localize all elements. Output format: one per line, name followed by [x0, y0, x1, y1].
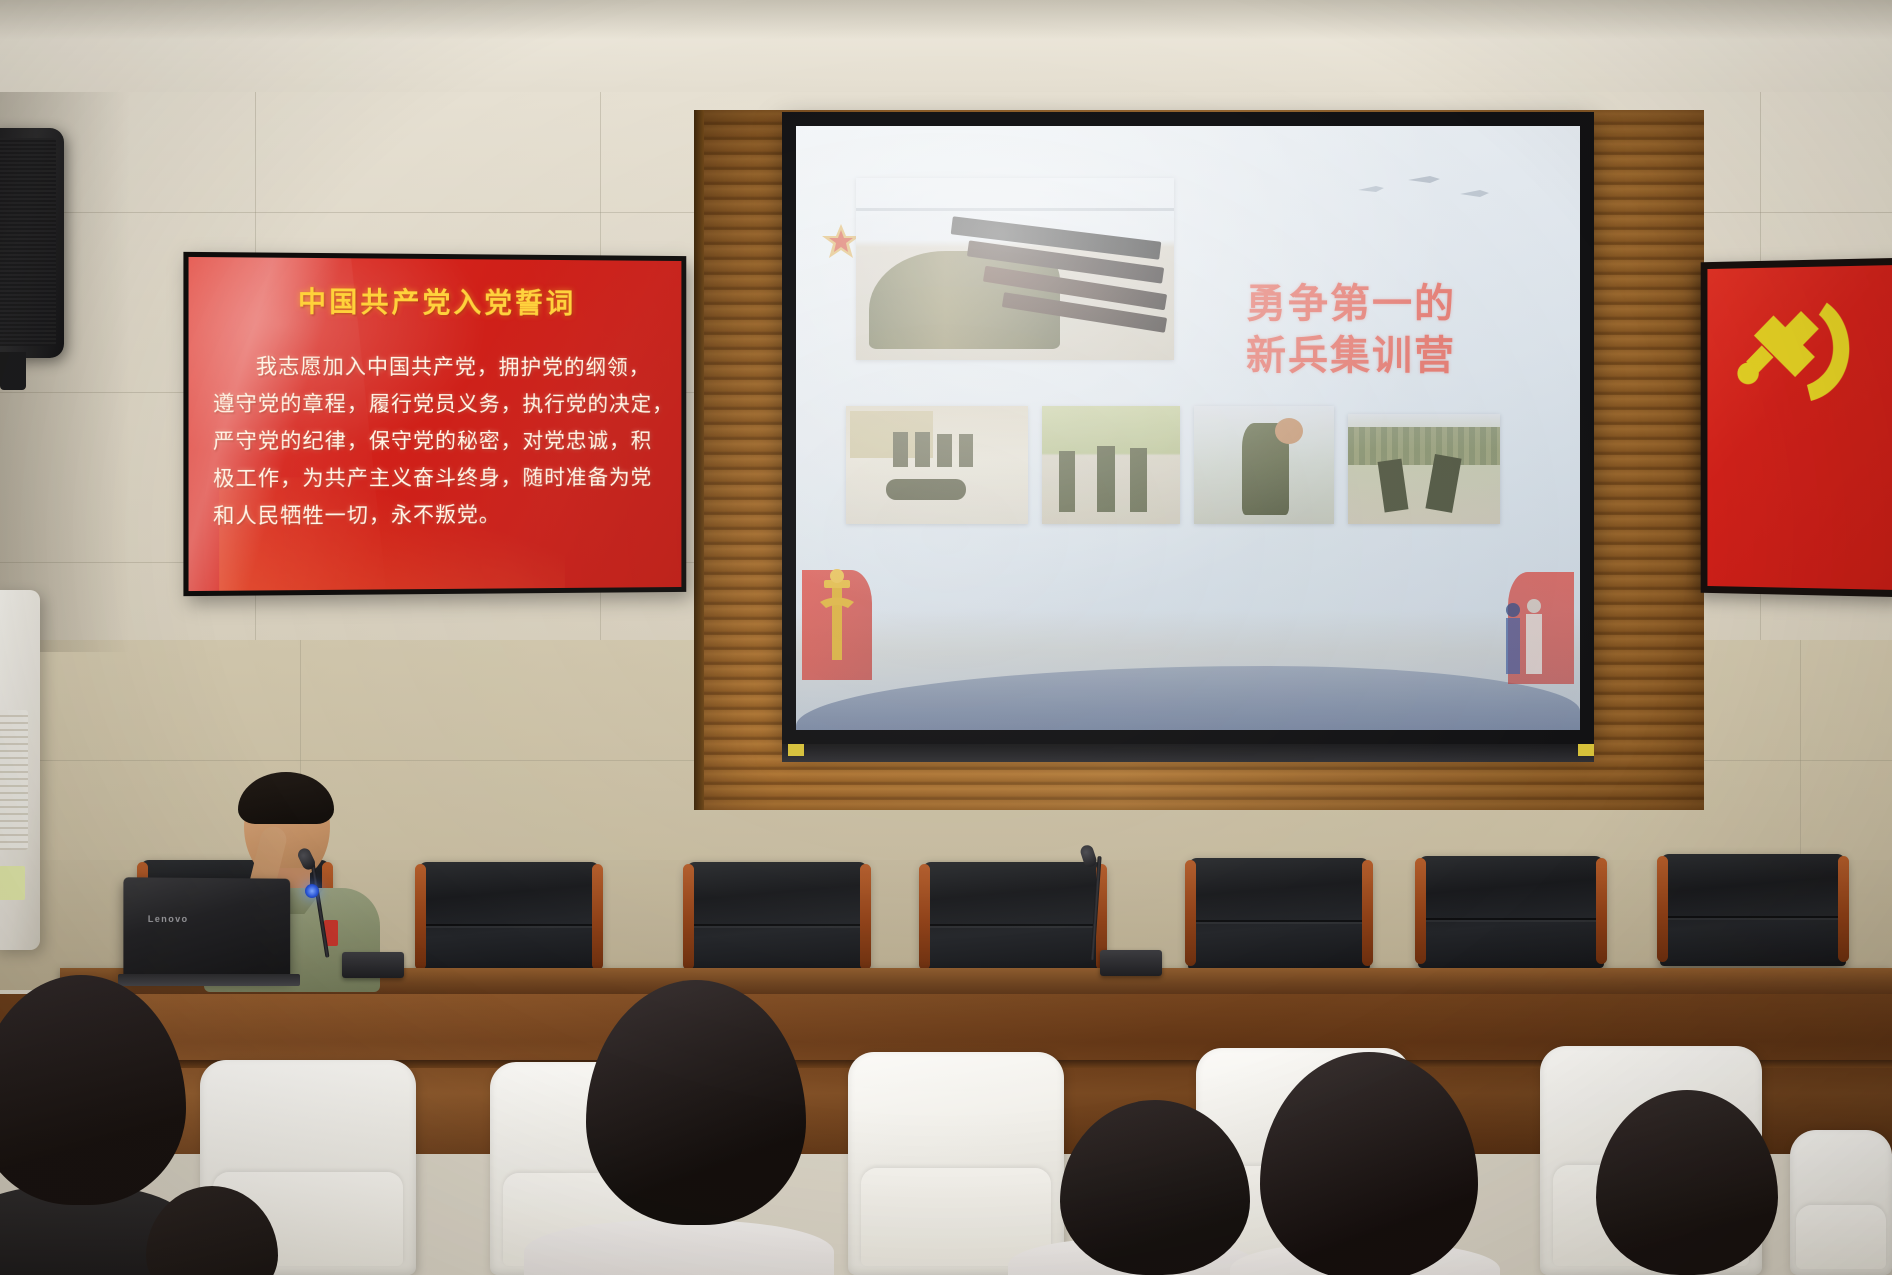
speaker-mount — [0, 352, 26, 390]
oath-line-4: 极工作，为共产主义奋斗终身，随时准备为党 — [213, 460, 658, 498]
attendee-shoulders — [524, 1220, 834, 1275]
oath-line-2: 遵守党的章程，履行党员义务，执行党的决定， — [213, 386, 658, 423]
slide-photo-formation — [1042, 406, 1180, 524]
oath-banner-title: 中国共产党入党誓词 — [189, 279, 682, 322]
huabiao-column-icon — [818, 568, 856, 664]
ac-vent — [0, 710, 28, 850]
oath-banner-text: 我志愿加入中国共产党，拥护党的纲领， 遵守党的章程，履行党员义务，执行党的决定，… — [213, 348, 658, 535]
air-conditioner — [0, 590, 40, 950]
audience-chair[interactable] — [1790, 1130, 1892, 1275]
slide-title-line-2: 新兵集训营 — [1246, 330, 1456, 382]
slide-photo-ground-drill — [846, 406, 1028, 524]
stage-chair[interactable] — [418, 862, 600, 974]
stage-chair[interactable] — [1418, 856, 1604, 968]
audience-chair[interactable] — [848, 1052, 1064, 1275]
honor-guard-icon — [1498, 584, 1560, 680]
stage-chair[interactable] — [922, 862, 1104, 974]
slide-photo-obstacle — [1194, 406, 1334, 524]
speaker-grille — [0, 138, 56, 346]
stage-chair[interactable] — [686, 862, 868, 974]
presenter-hair — [238, 772, 334, 824]
oath-line-3: 严守党的纪律，保守党的秘密，对党忠诚，积 — [213, 423, 658, 460]
stage-chair[interactable] — [1660, 854, 1846, 966]
party-flag-banner — [1701, 258, 1892, 598]
slide-title-line-1: 勇争第一的 — [1246, 278, 1456, 330]
fighter-jets-icon — [1348, 168, 1518, 208]
microphone-base[interactable] — [342, 952, 404, 978]
hammer-and-sickle-icon — [1717, 288, 1865, 419]
laptop-base — [118, 974, 300, 986]
wood-panel-edge — [694, 110, 704, 810]
party-oath-banner: 中国共产党入党誓词 我志愿加入中国共产党，拥护党的纲领， 遵守党的章程，履行党员… — [183, 252, 686, 596]
laptop-brand-label: Lenovo — [148, 914, 189, 924]
laptop[interactable]: Lenovo — [123, 877, 290, 978]
oath-line-5: 和人民牺牲一切，永不叛党。 — [213, 496, 658, 535]
oath-line-1: 我志愿加入中国共产党，拥护党的纲领， — [213, 348, 658, 386]
slide-photo-combat — [1348, 414, 1500, 524]
presentation-slide: 勇争第一的 新兵集训营 — [796, 126, 1580, 730]
projection-screen: 勇争第一的 新兵集训营 — [782, 112, 1594, 744]
stage-chair[interactable] — [1188, 858, 1370, 970]
wall-speaker-icon — [0, 128, 64, 358]
conference-hall-photo: 中国共产党入党誓词 我志愿加入中国共产党，拥护党的纲领， 遵守党的章程，履行党员… — [0, 0, 1892, 1275]
slide-photo-shooting — [856, 178, 1174, 360]
microphone-base[interactable] — [1100, 950, 1162, 976]
ac-label — [0, 866, 25, 900]
ceiling-band — [0, 0, 1892, 94]
microphone-indicator-light — [305, 884, 319, 898]
screen-foot-right — [1578, 744, 1594, 756]
slide-title: 勇争第一的 新兵集训营 — [1246, 278, 1456, 382]
screen-foot-left — [788, 744, 804, 756]
screen-bottom-bar — [782, 744, 1594, 762]
